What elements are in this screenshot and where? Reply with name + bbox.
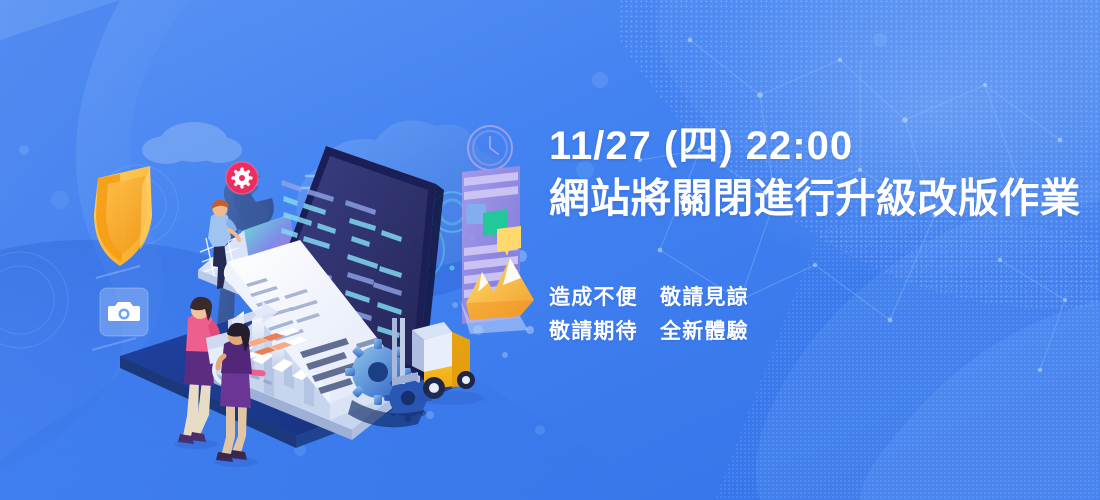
subline-apology: 造成不便 敬請見諒 [549,281,1100,315]
fork-mast [400,318,405,384]
cloud-top-left [142,122,242,164]
shield-icon [94,166,152,266]
headline-date: 11/27 (四) 22:00 [549,122,1100,170]
maintenance-banner: 11/27 (四) 22:00 網站將關閉進行升級改版作業 造成不便 敬請見諒 … [0,0,1100,500]
headline-main: 網站將關閉進行升級改版作業 [549,174,1100,223]
sub-message-group: 造成不便 敬請見諒 敬請期待 全新體驗 [549,281,1100,349]
camera-icon [92,266,148,350]
gear-badge-icon [226,162,258,194]
subline-anticipation: 敬請期待 全新體驗 [549,315,1100,349]
message-block: 11/27 (四) 22:00 網站將關閉進行升級改版作業 造成不便 敬請見諒 … [549,122,1100,349]
